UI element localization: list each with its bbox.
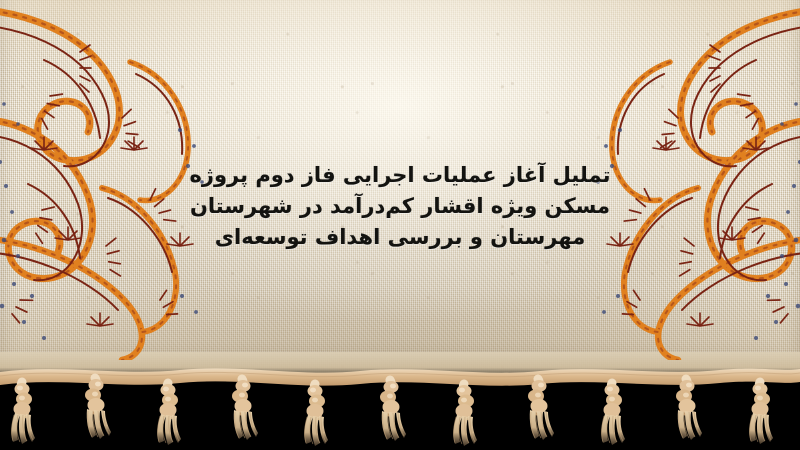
headline-line-2: مسکن ویژه اقشار کم‌درآمد در شهرستان (0, 191, 800, 222)
banner-headline: تملیل آغاز عملیات اجرایی فاز دوم پروژه م… (0, 160, 800, 253)
black-backdrop (0, 374, 800, 450)
headline-line-3: مهرستان و بررسی اهداف توسعه‌ای (0, 222, 800, 253)
banner-canvas: تملیل آغاز عملیات اجرایی فاز دوم پروژه م… (0, 0, 800, 450)
headline-line-1: تملیل آغاز عملیات اجرایی فاز دوم پروژه (0, 160, 800, 191)
